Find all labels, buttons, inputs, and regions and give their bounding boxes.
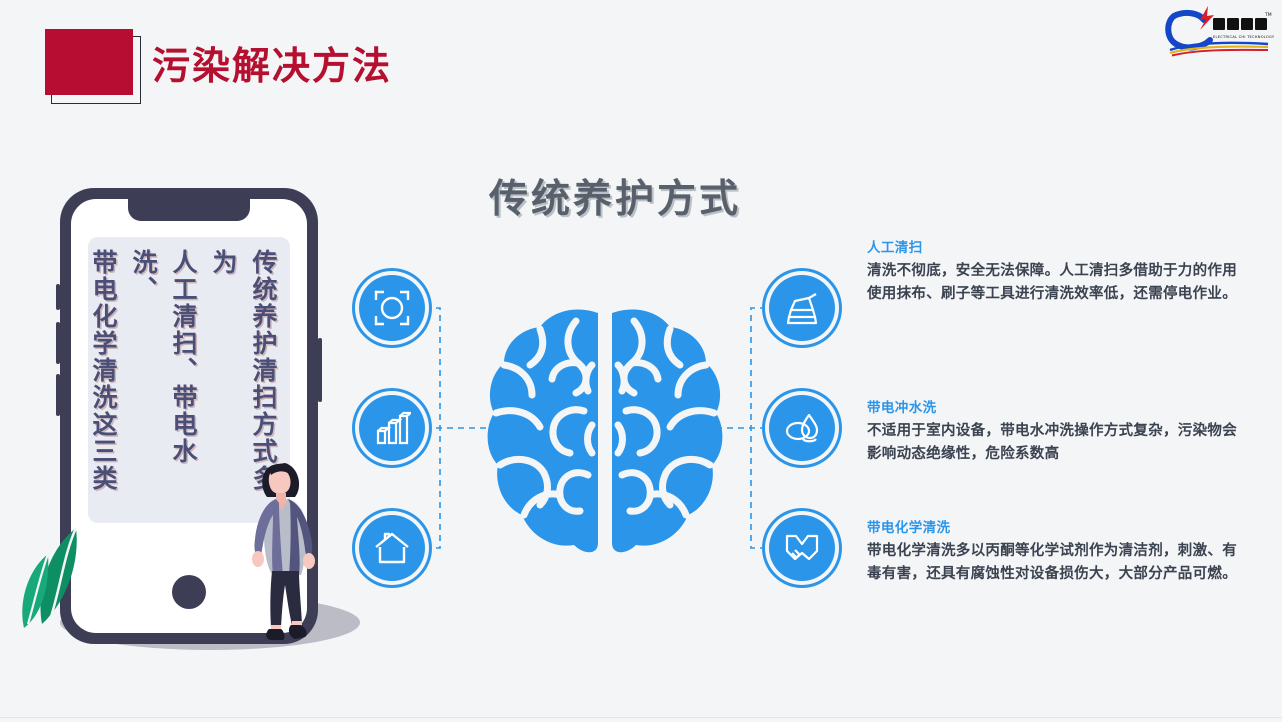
phone-button-power [318,338,322,402]
header-accent-block [45,29,133,95]
page-title: 污染解决方法 [152,42,392,90]
phone-home-button [172,575,206,609]
phone-button-volume-down [56,374,60,416]
item-block-2: 带电冲水洗 不适用于室内设备，带电水冲洗操作方式复杂，污染物会影响动态绝缘性，危… [867,398,1239,466]
plant-decoration-icon [20,520,150,635]
logo-mark-icon: ELECTRICAL CHI TECHNOLOGY TM [1164,2,1274,58]
handshake-icon[interactable] [769,515,835,581]
focus-frame-icon[interactable] [359,275,425,341]
section-title: 传统养护方式 [455,168,775,224]
bar-chart-icon[interactable] [359,395,425,461]
slide-canvas: 污染解决方法 ELECTRICAL CHI TECHNOLOGY TM 电驰科技… [0,0,1282,722]
item-block-3: 带电化学清洗 带电化学清洗多以丙酮等化学试剂作为清洁剂，刺激、有毒有害，还具有腐… [867,518,1239,586]
company-logo: ELECTRICAL CHI TECHNOLOGY TM 电驰科技 ELECTR… [1164,2,1274,58]
item-title: 人工清扫 [867,238,1239,258]
phone-button-volume-up [56,322,60,364]
vtext-line-2: 人工清扫、带电水洗、 [129,249,198,465]
item-body: 不适用于室内设备，带电水冲洗操作方式复杂，污染物会影响动态绝缘性，危险系数高 [867,420,1239,466]
item-block-1: 人工清扫 清洗不彻底，安全无法保障。人工清扫多借助于力的作用使用抹布、刷子等工具… [867,238,1239,306]
person-illustration [243,455,353,645]
vtext-line-3: 带电化学清洗这三类 [89,249,118,492]
phone-notch [128,199,250,221]
bottom-divider [0,717,1282,718]
svg-text:ELECTRICAL CHI TECHNOLOGY: ELECTRICAL CHI TECHNOLOGY [1213,35,1274,39]
item-body: 清洗不彻底，安全无法保障。人工清扫多借助于力的作用使用抹布、刷子等工具进行清洗效… [867,260,1239,306]
water-drop-brush-icon[interactable] [769,395,835,461]
svg-text:TM: TM [1264,12,1272,18]
item-body: 带电化学清洗多以丙酮等化学试剂作为清洁剂，刺激、有毒有害，还具有腐蚀性对设备损伤… [867,540,1239,586]
brain-graphic [480,305,730,560]
item-title: 带电冲水洗 [867,398,1239,418]
broom-icon[interactable] [769,275,835,341]
phone-button-mute [56,284,60,310]
house-icon[interactable] [359,515,425,581]
item-title: 带电化学清洗 [867,518,1239,538]
